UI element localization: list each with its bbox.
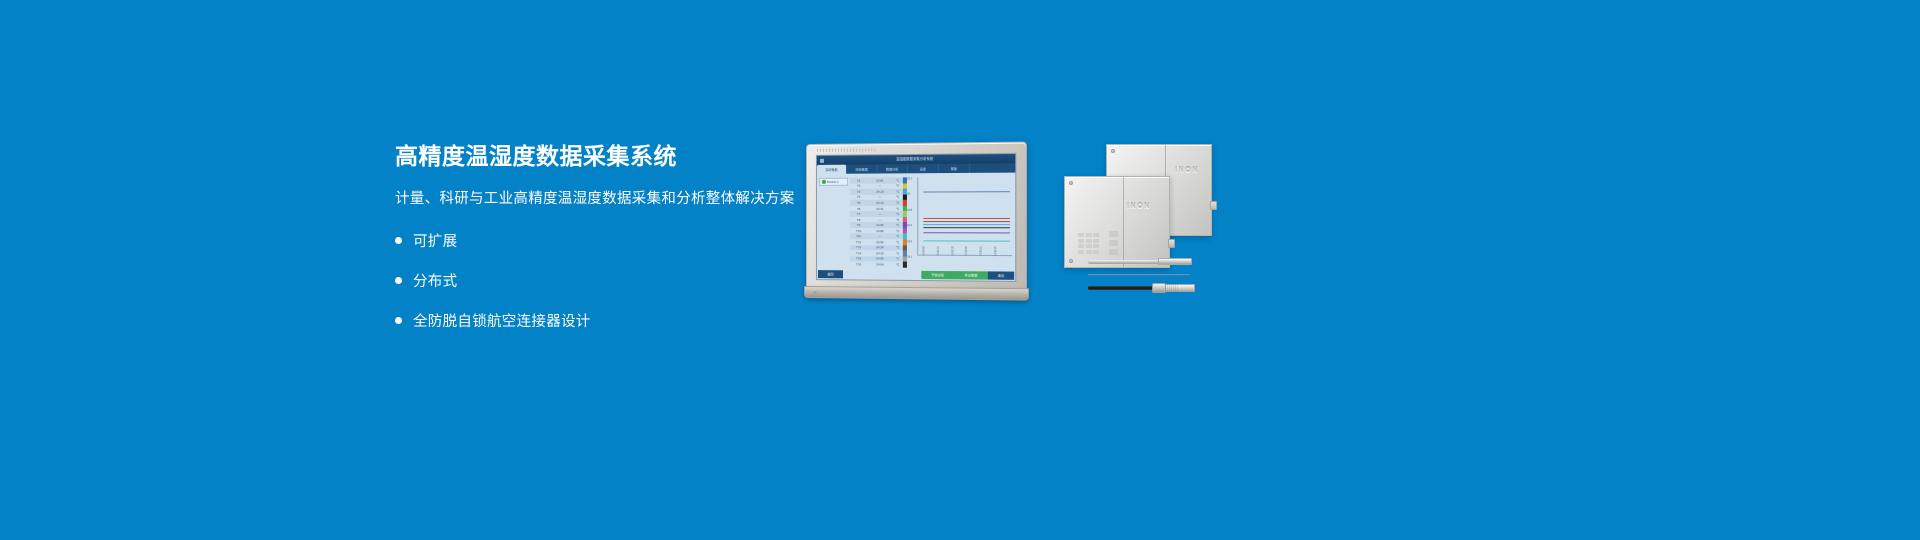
x-axis-tick-label: 14:31:52 (965, 246, 968, 256)
chart-series-line (924, 217, 1010, 218)
table-row[interactable]: T924.96℃ (850, 222, 907, 228)
channel-value: 25.96 (867, 240, 892, 244)
list-item: 分布式 (395, 270, 795, 291)
channel-value: 23.81 (867, 178, 892, 182)
channel-name: T1 (850, 178, 867, 182)
app-window-title: 温湿度数据采集分析系统 (817, 154, 1015, 165)
device-tree-panel: Module-1 (817, 174, 850, 270)
channel-unit: ℃ (893, 263, 903, 267)
channel-name: T15 (850, 257, 867, 261)
module-etched-grid (1078, 233, 1099, 254)
list-item: 全防脱自锁航空连接器设计 (395, 310, 795, 331)
status-online-icon (821, 180, 825, 184)
connector-knurl-texture (1165, 284, 1178, 292)
channel-value: 24.86 (867, 229, 892, 233)
table-row[interactable]: T8---℃ (850, 217, 907, 223)
tab-data-analysis[interactable]: 数据分析 (877, 164, 908, 173)
channel-name: T11 (850, 234, 867, 238)
channel-unit: ℃ (893, 189, 903, 193)
table-row[interactable]: T7---℃ (850, 211, 907, 217)
base-corner-mark: ◤ (814, 290, 817, 295)
footer-action-group: 开始采集 导出数据 退出 (921, 270, 1014, 279)
chart-series-line (924, 227, 1010, 228)
marketing-copy-block: 高精度温湿度数据采集系统 计量、科研与工业高精度温湿度数据采集和分析整体解决方案… (395, 142, 795, 350)
channel-name: T4 (850, 195, 867, 199)
channel-name: T9 (850, 223, 867, 227)
chart-plot-area (917, 177, 1012, 256)
channel-name: T12 (850, 240, 867, 244)
blue-sensor-cable (1088, 274, 1190, 276)
channel-unit: ℃ (893, 206, 903, 210)
screw-icon (1069, 181, 1073, 185)
black-sensor-cable (1088, 286, 1156, 290)
screw-icon (1069, 259, 1073, 263)
start-acquisition-button[interactable]: 开始采集 (921, 270, 954, 278)
channel-value: --- (867, 195, 892, 199)
page-subtitle: 计量、科研与工业高精度温湿度数据采集和分析整体解决方案 (395, 187, 795, 208)
realtime-chart: 25.12524.824.624.324.1 14:30:5214:31:121… (907, 173, 1015, 271)
x-axis-tick-label: 14:31:12 (937, 246, 940, 256)
channel-name: T14 (850, 251, 867, 255)
chart-series-line (924, 221, 1010, 222)
chart-series-line (924, 191, 1010, 192)
channel-unit: ℃ (893, 240, 903, 244)
metal-temperature-probe-shaft (1088, 260, 1164, 264)
module-brand-label: INON (1127, 203, 1151, 210)
channel-name: T2 (850, 184, 867, 188)
channel-unit: ℃ (893, 195, 903, 199)
product-banner: 高精度温湿度数据采集系统 计量、科研与工业高精度温湿度数据采集和分析整体解决方案… (0, 0, 1920, 540)
tab-history-data[interactable]: 历史数据 (847, 164, 877, 173)
app-content-area: Module-1 T123.81℃T2---℃T324.19℃T4---℃T52… (817, 173, 1015, 271)
channel-value: 24.15 (867, 251, 892, 255)
tab-realtime-data[interactable]: 实时数据 (817, 165, 847, 174)
channel-value: 24.13 (867, 201, 892, 205)
module-connector (1168, 239, 1175, 248)
y-axis-tick-label: 24.1 (907, 256, 912, 259)
feature-label: 可扩展 (413, 230, 457, 251)
channel-unit: ℃ (893, 212, 903, 216)
channel-name: T7 (850, 212, 867, 216)
channel-unit: ℃ (893, 218, 903, 222)
chart-x-axis: 14:30:5214:31:1214:31:3214:31:5214:32:12… (917, 256, 1012, 271)
x-axis-tick-label: 14:30:52 (923, 246, 926, 255)
channel-value: --- (867, 218, 892, 222)
panel-pc-vent-grille (817, 148, 877, 152)
y-axis-tick-label: 25.1 (907, 177, 912, 180)
channel-value: 24.28 (867, 246, 892, 250)
chart-y-axis: 25.12524.824.624.324.1 (907, 177, 916, 255)
channel-unit: ℃ (893, 246, 903, 250)
channel-value: 24.41 (867, 206, 892, 210)
channel-unit: ℃ (893, 251, 903, 255)
channel-unit: ℃ (893, 229, 903, 233)
table-row[interactable]: T1624.94℃ (850, 261, 907, 267)
channel-unit: ℃ (893, 201, 903, 205)
screw-icon (1111, 149, 1115, 153)
tab-settings[interactable]: 设置 (908, 164, 939, 173)
channel-value: 24.96 (867, 223, 892, 227)
page-title: 高精度温湿度数据采集系统 (395, 142, 795, 171)
app-footer-bar: 返回 开始采集 导出数据 退出 (817, 269, 1015, 281)
y-axis-tick-label: 24.6 (907, 224, 912, 227)
sensor-probe-group (1088, 252, 1208, 300)
channel-value: 24.94 (867, 262, 892, 266)
chart-series-line (924, 241, 1010, 242)
channel-name: T10 (850, 229, 867, 233)
x-axis-tick-label: 14:31:32 (951, 246, 954, 256)
channel-unit: ℃ (893, 257, 903, 261)
x-axis-tick-label: 14:32:12 (980, 246, 983, 256)
metal-temperature-probe-tip (1158, 258, 1192, 265)
channel-value: 24.96 (867, 257, 892, 261)
channel-name: T16 (850, 262, 867, 266)
feature-bullet-list: 可扩展 分布式 全防脱自锁航空连接器设计 (395, 230, 795, 331)
tree-node-module-1[interactable]: Module-1 (819, 178, 848, 186)
bullet-dot-icon (395, 237, 402, 244)
industrial-panel-pc: 温湿度数据采集分析系统 实时数据 历史数据 数据分析 设置 帮助 Module-… (806, 142, 1027, 297)
feature-label: 分布式 (413, 270, 457, 291)
channel-unit: ℃ (893, 234, 903, 238)
y-axis-tick-label: 24.3 (907, 240, 912, 243)
channel-value: --- (867, 212, 892, 216)
channel-value: --- (867, 234, 892, 238)
tree-node-label: Module-1 (827, 180, 839, 184)
channel-name: T13 (850, 246, 867, 250)
channel-unit: ℃ (893, 184, 903, 188)
bullet-dot-icon (395, 317, 402, 324)
y-axis-tick-label: 25 (907, 193, 910, 196)
cable-ferrule (1152, 283, 1166, 293)
channel-name: T6 (850, 206, 867, 210)
chart-series-line (924, 232, 1010, 233)
feature-label: 全防脱自锁航空连接器设计 (413, 310, 591, 331)
back-button[interactable]: 返回 (818, 270, 843, 278)
export-data-button[interactable]: 导出数据 (954, 271, 987, 279)
channel-unit: ℃ (893, 178, 903, 182)
x-axis-tick-label: 14:32:32 (994, 246, 997, 256)
channel-value: --- (867, 184, 892, 188)
table-row[interactable]: T624.41℃ (850, 206, 907, 212)
tab-help[interactable]: 帮助 (939, 164, 970, 173)
app-title-bar: 温湿度数据采集分析系统 (817, 154, 1015, 165)
channel-name: T3 (850, 190, 867, 194)
panel-pc-base: ◤ (804, 286, 1029, 301)
exit-button[interactable]: 退出 (988, 271, 1014, 279)
y-axis-tick-label: 24.8 (907, 209, 912, 212)
module-connector (1210, 201, 1217, 210)
channel-value: 24.19 (867, 189, 892, 193)
chart-series-line (924, 224, 1010, 225)
module-brand-label: INON (1175, 167, 1199, 174)
channel-readings-table[interactable]: T123.81℃T2---℃T324.19℃T4---℃T524.13℃T624… (850, 173, 907, 269)
panel-pc-screen: 温湿度数据采集分析系统 实时数据 历史数据 数据分析 设置 帮助 Module-… (816, 153, 1016, 282)
channel-unit: ℃ (893, 223, 903, 227)
channel-name: T5 (850, 201, 867, 205)
list-item: 可扩展 (395, 230, 795, 251)
bullet-dot-icon (395, 277, 402, 284)
channel-name: T8 (850, 218, 867, 222)
